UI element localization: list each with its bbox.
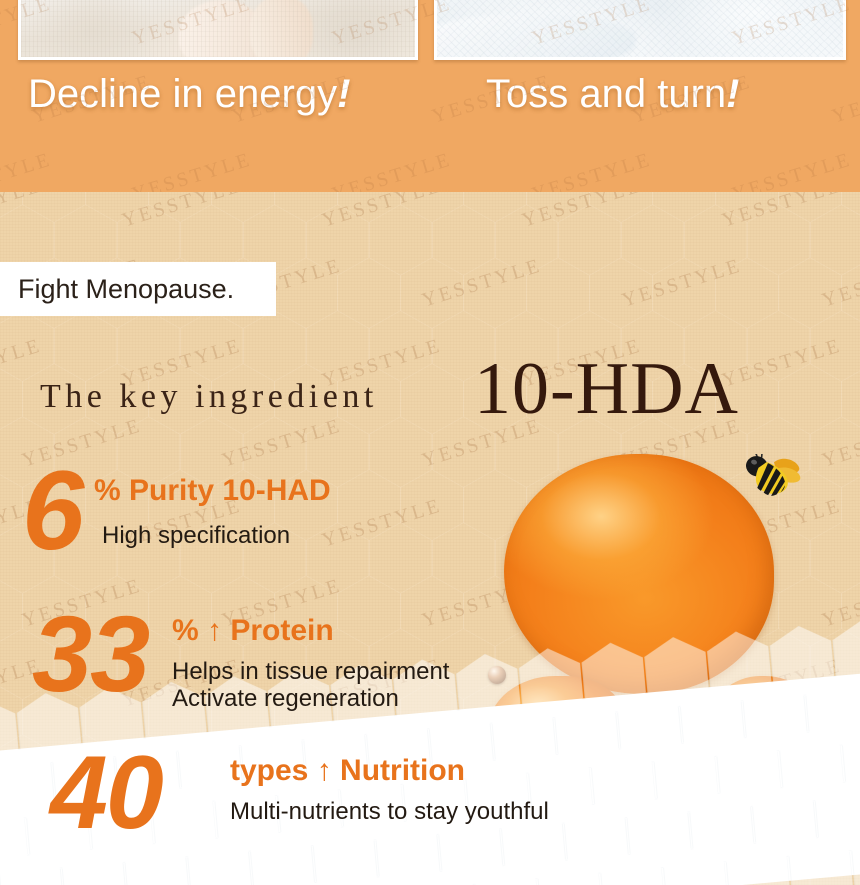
caption-right-mark: ! bbox=[726, 72, 739, 116]
caption-toss-and-turn: Toss and turn! bbox=[486, 74, 739, 114]
stat-purity-number: 6 bbox=[22, 462, 82, 561]
watermark-text: YESSTYLE bbox=[329, 148, 454, 192]
watermark-text: YESSTYLE bbox=[0, 148, 55, 192]
watermark-text: YESSTYLE bbox=[729, 148, 854, 192]
stat-purity-sub: High specification bbox=[102, 522, 290, 549]
white-bedding-photo bbox=[437, 0, 843, 57]
stat-protein-sub: Helps in tissue repairment Activate rege… bbox=[172, 658, 449, 713]
infographic-page: Decline in energy! Toss and turn! YESSTY… bbox=[0, 0, 860, 885]
stat-nutrition-number: 40 bbox=[50, 748, 162, 840]
top-banner: Decline in energy! Toss and turn! YESSTY… bbox=[0, 0, 860, 192]
key-ingredient-name: 10-HDA bbox=[474, 352, 739, 426]
stat-protein-sub-line: Helps in tissue repairment bbox=[172, 658, 449, 685]
caption-right-text: Toss and turn bbox=[486, 72, 726, 116]
watermark-text: YESSTYLE bbox=[529, 148, 654, 192]
stat-nutrition-sub: Multi-nutrients to stay youthful bbox=[230, 798, 549, 825]
stat-protein-number: 33 bbox=[32, 606, 148, 701]
caption-left-text: Decline in energy bbox=[28, 72, 337, 116]
fight-menopause-label: Fight Menopause. bbox=[18, 274, 234, 305]
key-ingredient-label: The key ingredient bbox=[40, 378, 378, 416]
photo-frame-left bbox=[18, 0, 418, 60]
stat-purity-sub-line: High specification bbox=[102, 522, 290, 549]
woman-covering-face-photo bbox=[21, 0, 415, 57]
watermark-text: YESSTYLE bbox=[129, 148, 254, 192]
watermark-text: YESSTYLE bbox=[829, 70, 860, 128]
caption-decline-in-energy: Decline in energy! bbox=[28, 74, 350, 114]
stat-nutrition-sub-line: Multi-nutrients to stay youthful bbox=[230, 798, 549, 825]
stat-protein-sub-line: Activate regeneration bbox=[172, 685, 449, 712]
stat-purity-headline: % Purity 10-HAD bbox=[94, 474, 331, 508]
photo-frame-right bbox=[434, 0, 846, 60]
caption-left-mark: ! bbox=[337, 72, 350, 116]
fight-menopause-badge: Fight Menopause. bbox=[0, 262, 276, 316]
bee-icon bbox=[734, 454, 806, 508]
stat-protein-headline: % ↑ Protein bbox=[172, 614, 334, 648]
stat-nutrition-headline: types ↑ Nutrition bbox=[230, 754, 465, 788]
